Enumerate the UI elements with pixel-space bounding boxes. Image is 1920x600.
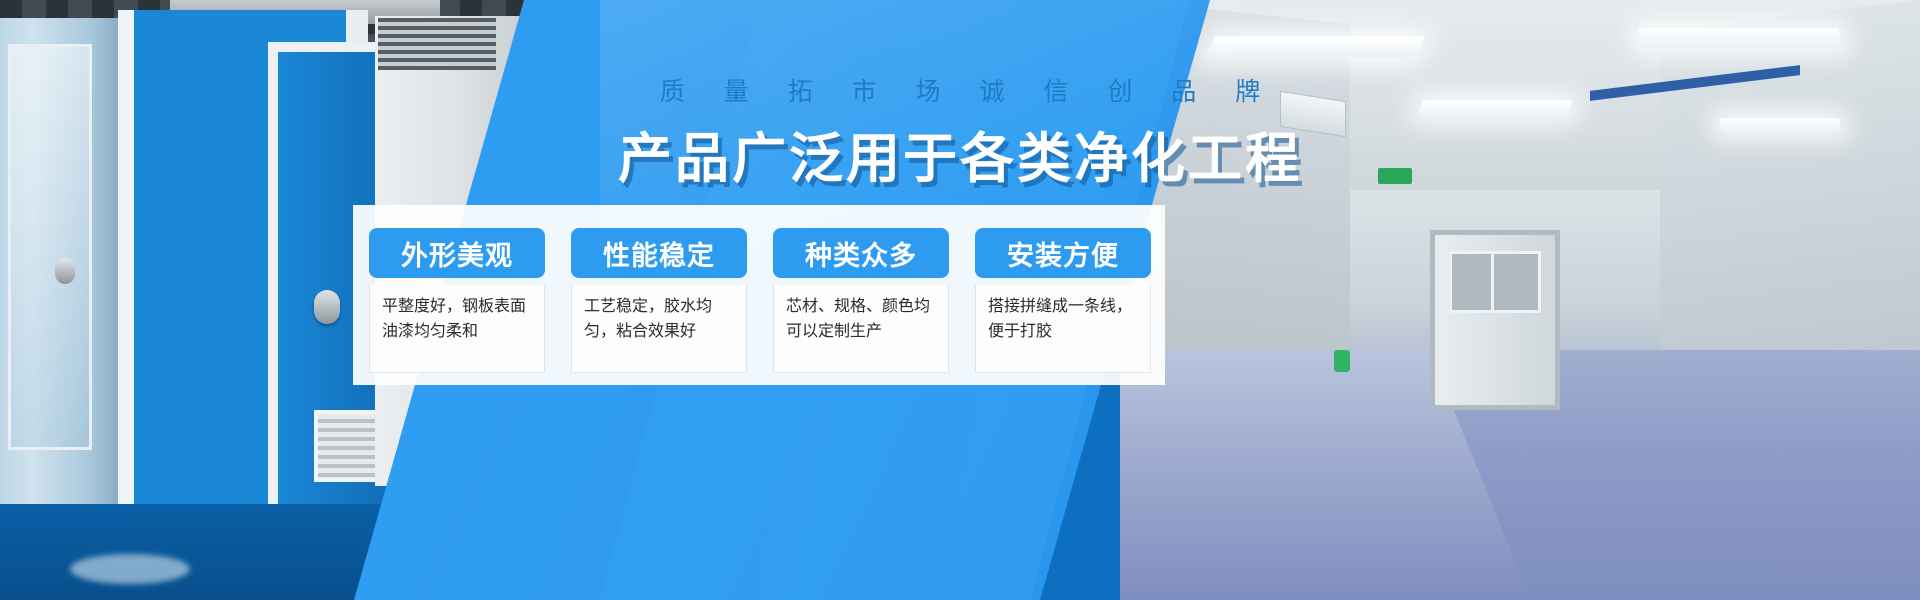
banner-headline: 产品广泛用于各类净化工程 (0, 114, 1920, 193)
ceiling-light (1638, 28, 1842, 48)
feature-card[interactable]: 性能稳定 工艺稳定，胶水均匀，粘合效果好 (571, 228, 747, 373)
feature-card-desc: 工艺稳定，胶水均匀，粘合效果好 (571, 285, 747, 373)
promo-banner: 质 量 拓 市 场 诚 信 创 品 牌 产品广泛用于各类净化工程 外形美观 平整… (0, 0, 1920, 600)
feature-card-title: 性能稳定 (571, 228, 747, 278)
feature-card-title: 种类众多 (773, 228, 949, 278)
feature-card-title: 安装方便 (975, 228, 1151, 278)
door-lock-icon (55, 258, 75, 284)
banner-tagline: 质 量 拓 市 场 诚 信 创 品 牌 (0, 72, 1920, 108)
door-handle (314, 290, 340, 324)
feature-card[interactable]: 安装方便 搭接拼缝成一条线，便于打胶 (975, 228, 1151, 373)
feature-card-desc: 平整度好，钢板表面油漆均匀柔和 (369, 285, 545, 373)
feature-card[interactable]: 外形美观 平整度好，钢板表面油漆均匀柔和 (369, 228, 545, 373)
feature-card[interactable]: 种类众多 芯材、规格、颜色均可以定制生产 (773, 228, 949, 373)
feature-card-desc: 搭接拼缝成一条线，便于打胶 (975, 285, 1151, 373)
floor-object (1334, 350, 1350, 372)
feature-card-list: 外形美观 平整度好，钢板表面油漆均匀柔和 性能稳定 工艺稳定，胶水均匀，粘合效果… (369, 228, 1151, 373)
feature-card-desc: 芯材、规格、颜色均可以定制生产 (773, 285, 949, 373)
ceiling-light (1205, 36, 1426, 58)
cleanroom-double-door (1430, 230, 1560, 410)
cabin-grille (378, 18, 496, 70)
feature-card-title: 外形美观 (369, 228, 545, 278)
